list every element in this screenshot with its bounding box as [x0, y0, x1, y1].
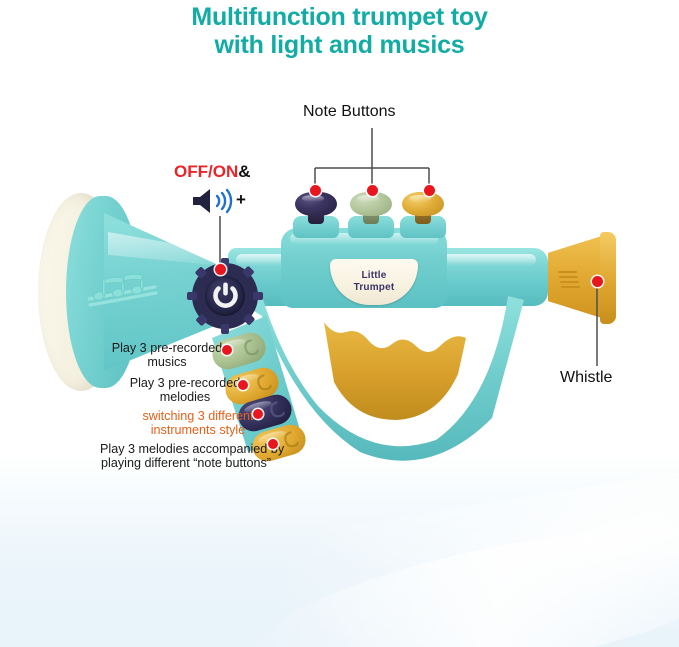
off-on-text: OFF/ON: [174, 162, 238, 181]
feature-label-prerecorded-musics: Play 3 pre-recorded musics: [108, 341, 226, 369]
feature-label-prerecorded-musics-line-1: Play 3 pre-recorded: [108, 341, 226, 355]
product-infographic: Multifunction trumpet toy with light and…: [0, 0, 679, 647]
marker-dot-note-button-1: [310, 185, 321, 196]
marker-dot-whistle: [592, 276, 603, 287]
note-buttons-label: Note Buttons: [303, 104, 396, 119]
whistle-label: Whistle: [560, 370, 612, 385]
off-on-ampersand: &: [238, 162, 250, 181]
trumpet-toy-illustration: Little Trumpet: [0, 0, 679, 647]
marker-dot-prerecorded-melodies: [238, 380, 248, 390]
marker-dot-power-dial: [215, 264, 226, 275]
feature-label-melodies-with-notes-line-1: Play 3 melodies accompanied by: [100, 442, 272, 456]
marker-dot-prerecorded-musics: [222, 345, 232, 355]
feature-label-melodies-with-notes: Play 3 melodies accompanied by playing d…: [100, 442, 272, 470]
trumpet-handle: [0, 0, 679, 647]
marker-dot-melodies-with-notes: [268, 439, 278, 449]
plus-symbol: +: [236, 191, 246, 208]
feature-label-instrument-switch-line-2: instruments style: [139, 423, 257, 437]
feature-label-prerecorded-musics-line-2: musics: [108, 355, 226, 369]
marker-dot-note-button-3: [424, 185, 435, 196]
feature-label-prerecorded-melodies-line-1: Play 3 pre-recorded: [126, 376, 244, 390]
feature-label-instrument-switch: switching 3 different instruments style: [139, 409, 257, 437]
feature-label-prerecorded-melodies-line-2: melodies: [126, 390, 244, 404]
power-icon: [211, 281, 240, 310]
feature-label-melodies-with-notes-line-2: playing different “note buttons”: [100, 456, 272, 470]
marker-dot-instrument-switch: [253, 409, 263, 419]
off-on-label: OFF/ON&: [174, 162, 251, 182]
feature-label-prerecorded-melodies: Play 3 pre-recorded melodies: [126, 376, 244, 404]
handle-grip: [324, 322, 466, 420]
marker-dot-note-button-2: [367, 185, 378, 196]
feature-label-instrument-switch-line-1: switching 3 different: [139, 409, 257, 423]
